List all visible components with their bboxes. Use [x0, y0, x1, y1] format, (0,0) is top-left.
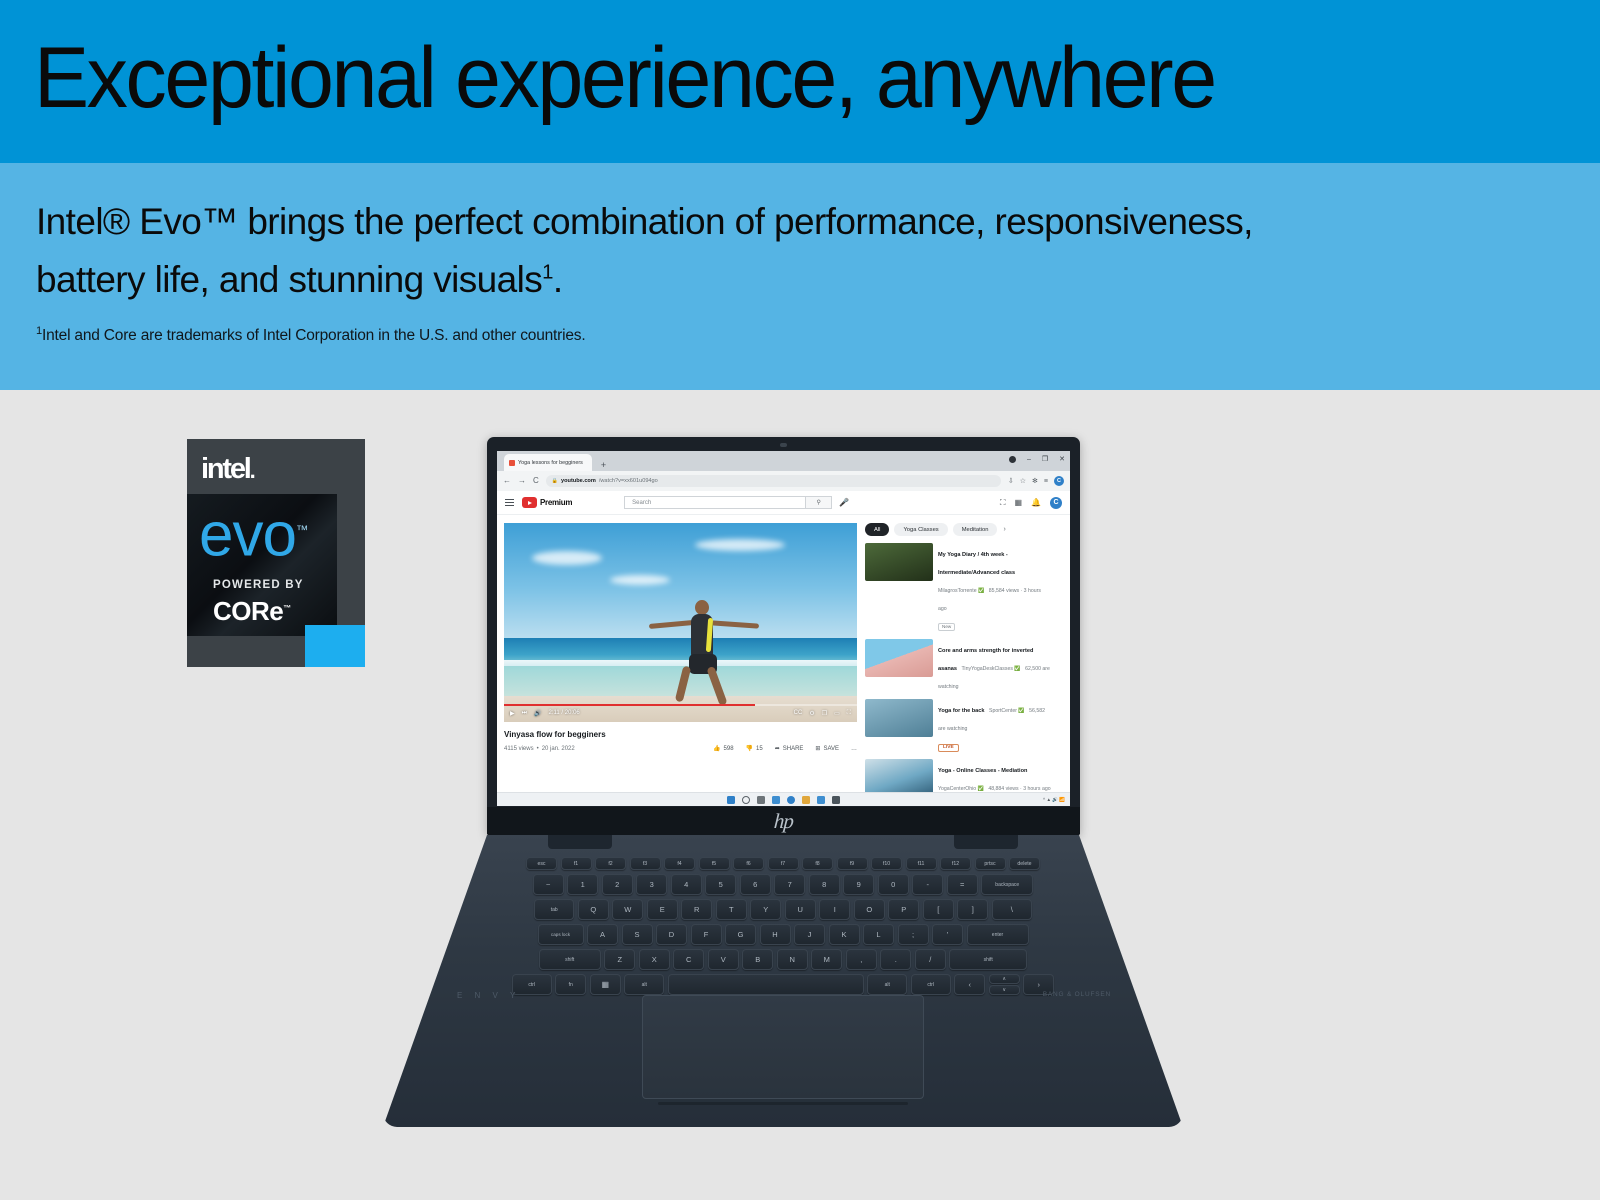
thumbs-down-icon: 👎 — [746, 745, 753, 752]
evo-wordmark: evo™ — [199, 499, 307, 567]
youtube-play-icon — [522, 497, 537, 508]
video-player[interactable]: ▶ ⏭ 🔊 2:11 / 20:06 CC ⚙ ❐ ▭ — [504, 523, 857, 722]
promo-page: Exceptional experience, anywhere Intel® … — [0, 0, 1600, 1200]
laptop-base: esc f1 f2 f3 f4 f5 f6 f7 f8 f9 f10 f11 f… — [383, 835, 1183, 1127]
page-title: Exceptional experience, anywhere — [34, 26, 1215, 130]
suggestion-channel: TinyYogaDeskClasses ✅ — [961, 666, 1020, 672]
key-j[interactable]: J — [794, 924, 825, 945]
key-v[interactable]: V — [708, 949, 739, 970]
channel-name: TinyYogaDeskClasses — [961, 666, 1013, 672]
live-badge: LIVE — [938, 744, 959, 752]
key-s[interactable]: S — [622, 924, 653, 945]
reload-icon[interactable]: C — [533, 477, 539, 485]
intel-wordmark-dot: . — [250, 458, 256, 483]
footnote: 1Intel and Core are trademarks of Intel … — [36, 327, 585, 345]
cloud-shape — [610, 575, 670, 585]
search-icon[interactable]: ⚲ — [806, 496, 832, 509]
share-button[interactable]: ➦SHARE — [775, 745, 804, 752]
browser-toolbar: ← → C 🔒 youtube.com/watch?v=xx601u094go … — [497, 471, 1070, 491]
hinge-right — [954, 835, 1018, 849]
screen-bottom-bezel: hp — [487, 807, 1080, 835]
headline-band: Exceptional experience, anywhere — [0, 0, 1600, 163]
key-f4[interactable]: f4 — [664, 857, 695, 870]
key-enter[interactable]: enter — [967, 924, 1029, 945]
key-y[interactable]: Y — [750, 899, 781, 920]
youtube-premium-label: Premium — [540, 498, 572, 507]
suggestion-info: Yoga for the back SportCenter ✅ 56,582 a… — [938, 699, 1051, 753]
key-g[interactable]: G — [725, 924, 756, 945]
fullscreen-icon[interactable]: ⛶ — [847, 710, 851, 717]
volume-icon[interactable]: 🔊 — [534, 710, 541, 717]
save-label: SAVE — [823, 746, 839, 752]
hamburger-menu-icon[interactable] — [505, 499, 514, 507]
key-p[interactable]: P — [888, 899, 919, 920]
suggestion-title: Yoga for the back — [938, 708, 985, 714]
key-x[interactable]: X — [639, 949, 670, 970]
key-bracket-left[interactable]: [ — [923, 899, 954, 920]
video-thumbnail — [865, 543, 933, 581]
yoga-person-figure — [645, 596, 765, 706]
palm-rest: E N V Y BANG & OLUFSEN — [443, 987, 1123, 1107]
profile-icon[interactable] — [1009, 456, 1016, 463]
play-button[interactable]: ▶ — [510, 710, 515, 717]
laptop-lid: Yoga lessons for begginers + – ❐ ✕ ← — [487, 437, 1080, 835]
widgets-icon[interactable] — [772, 796, 780, 804]
extensions-icon[interactable]: ✻ — [1032, 477, 1038, 485]
key-i[interactable]: I — [819, 899, 850, 920]
chip-yoga-classes[interactable]: Yoga Classes — [894, 523, 947, 536]
key-a[interactable]: A — [587, 924, 618, 945]
youtube-header-actions: ⛶ ▦ 🔔 C — [1000, 497, 1062, 509]
key-t[interactable]: T — [716, 899, 747, 920]
front-lip — [658, 1102, 908, 1105]
keyboard-qwerty-row: tab Q W E R T Y U I O P [ ] \ — [479, 899, 1087, 920]
save-button[interactable]: ⊞SAVE — [815, 745, 839, 752]
evo-badge-accent-corner — [305, 625, 365, 667]
intel-wordmark-text: intel — [201, 453, 250, 485]
key-7[interactable]: 7 — [774, 874, 805, 895]
browser-tab-title: Yoga lessons for begginers — [518, 460, 583, 466]
bang-olufsen-label: BANG & OLUFSEN — [1043, 991, 1111, 998]
key-f9[interactable]: f9 — [837, 857, 868, 870]
powered-by-label: POWERED BY — [213, 579, 304, 591]
forward-icon[interactable]: → — [518, 477, 526, 485]
key-1[interactable]: 1 — [567, 874, 598, 895]
key-f1[interactable]: f1 — [561, 857, 592, 870]
key-slash[interactable]: / — [915, 949, 946, 970]
keyboard-number-row: ~ 1 2 3 4 5 6 7 8 9 0 - = backspace — [479, 874, 1087, 895]
key-tilde[interactable]: ~ — [533, 874, 564, 895]
key-4[interactable]: 4 — [671, 874, 702, 895]
cloud-shape — [695, 539, 785, 551]
youtube-content: ▶ ⏭ 🔊 2:11 / 20:06 CC ⚙ ❐ ▭ — [497, 515, 1070, 805]
bell-icon[interactable]: 🔔 — [1031, 498, 1041, 507]
key-f3[interactable]: f3 — [630, 857, 661, 870]
figure-left-arm — [649, 620, 693, 629]
video-controls: ▶ ⏭ 🔊 2:11 / 20:06 CC ⚙ ❐ ▭ — [504, 706, 857, 720]
like-button[interactable]: 👍598 — [713, 745, 734, 752]
save-plus-icon: ⊞ — [815, 745, 820, 752]
apps-grid-icon[interactable]: ▦ — [1014, 498, 1022, 507]
meta-separator: • — [537, 746, 539, 752]
key-esc[interactable]: esc — [526, 857, 557, 870]
edge-icon[interactable] — [787, 796, 795, 804]
keyboard-function-row: esc f1 f2 f3 f4 f5 f6 f7 f8 f9 f10 f11 f… — [479, 857, 1087, 870]
suggestion-info: My Yoga Diary / 4th week - Intermediate/… — [938, 543, 1051, 633]
chip-all[interactable]: All — [865, 523, 889, 536]
subhead-line-1: Intel® Evo™ brings the perfect combinati… — [36, 201, 1253, 242]
start-icon[interactable] — [727, 796, 735, 804]
subhead-text: Intel® Evo™ brings the perfect combinati… — [36, 193, 1556, 309]
lock-icon: 🔒 — [552, 478, 558, 484]
chip-meditation[interactable]: Meditation — [953, 523, 998, 536]
file-explorer-icon[interactable] — [802, 796, 810, 804]
back-icon[interactable]: ← — [503, 477, 511, 485]
figure-right-leg — [707, 666, 728, 706]
key-n[interactable]: N — [777, 949, 808, 970]
key-c[interactable]: C — [673, 949, 704, 970]
browser-window: Yoga lessons for begginers + – ❐ ✕ ← — [497, 451, 1070, 806]
core-trademark: ™ — [283, 603, 290, 612]
keyboard: esc f1 f2 f3 f4 f5 f6 f7 f8 f9 f10 f11 f… — [479, 857, 1087, 999]
intel-evo-badge: intel. evo™ POWERED BY CORe™ — [187, 439, 365, 667]
video-title: Vinyasa flow for begginers — [504, 730, 857, 739]
key-f2[interactable]: f2 — [595, 857, 626, 870]
key-w[interactable]: W — [612, 899, 643, 920]
video-controls-right: CC ⚙ ❐ ▭ ⛶ — [794, 710, 851, 717]
key-f7[interactable]: f7 — [768, 857, 799, 870]
list-item[interactable]: My Yoga Diary / 4th week - Intermediate/… — [865, 543, 1051, 633]
windows-taskbar: ^ ▲ 🔊 📶 — [497, 792, 1070, 806]
key-2[interactable]: 2 — [602, 874, 633, 895]
star-icon[interactable]: ☆ — [1020, 477, 1026, 485]
key-h[interactable]: H — [760, 924, 791, 945]
key-quote[interactable]: ' — [932, 924, 963, 945]
next-button[interactable]: ⏭ — [522, 710, 527, 717]
subhead-line-2: battery life, and stunning visuals — [36, 259, 542, 300]
dislike-button[interactable]: 👎15 — [746, 745, 763, 752]
key-u[interactable]: U — [785, 899, 816, 920]
key-f6[interactable]: f6 — [733, 857, 764, 870]
window-controls: – ❐ ✕ — [1009, 455, 1065, 463]
key-z[interactable]: Z — [604, 949, 635, 970]
url-path: /watch?v=xx601u094go — [599, 478, 658, 484]
theater-mode-icon[interactable]: ▭ — [834, 710, 840, 717]
suggestion-channel: MilagrosTorrente ✅ — [938, 588, 984, 594]
verified-icon: ✅ — [1018, 708, 1024, 714]
task-view-icon[interactable] — [757, 796, 765, 804]
mail-icon[interactable] — [832, 796, 840, 804]
chips-next-icon[interactable]: › — [1003, 526, 1005, 533]
channel-name: MilagrosTorrente — [938, 588, 977, 594]
key-f5[interactable]: f5 — [699, 857, 730, 870]
youtube-header: Premium Search ⚲ 🎤 ⛶ ▦ 🔔 C — [497, 491, 1070, 515]
miniplayer-icon[interactable]: ❐ — [822, 710, 827, 717]
suggestion-title: My Yoga Diary / 4th week - Intermediate/… — [938, 552, 1015, 576]
key-l[interactable]: L — [863, 924, 894, 945]
minimize-button[interactable]: – — [1027, 456, 1031, 463]
close-button[interactable]: ✕ — [1059, 455, 1065, 463]
intel-wordmark: intel. — [201, 453, 256, 486]
key-prtsc[interactable]: prtsc — [975, 857, 1006, 870]
video-main-column: ▶ ⏭ 🔊 2:11 / 20:06 CC ⚙ ❐ ▭ — [504, 523, 857, 805]
key-8[interactable]: 8 — [809, 874, 840, 895]
video-meta-row: 4115 views • 20 jan. 2022 👍598 👎15 ➦SHAR… — [504, 745, 857, 752]
key-f8[interactable]: f8 — [802, 857, 833, 870]
video-thumbnail — [865, 639, 933, 677]
video-date: 20 jan. 2022 — [542, 746, 575, 752]
status-badge: New — [938, 623, 955, 631]
figure-left-leg — [675, 666, 691, 703]
share-arrow-icon: ➦ — [775, 745, 780, 752]
key-o[interactable]: O — [854, 899, 885, 920]
subhead-band: Intel® Evo™ brings the perfect combinati… — [0, 163, 1600, 390]
key-0[interactable]: 0 — [878, 874, 909, 895]
key-f10[interactable]: f10 — [871, 857, 902, 870]
key-backslash[interactable]: \ — [992, 899, 1032, 920]
list-item[interactable]: Core and arms strength for inverted asan… — [865, 639, 1051, 693]
new-tab-button[interactable]: + — [601, 459, 606, 471]
suggestion-title: Yoga - Online Classes - Mediation — [938, 768, 1027, 774]
key-arrow-up[interactable]: ∧ — [989, 974, 1020, 984]
keyboard-shift-row: shift Z X C V B N M , . / shift — [479, 949, 1087, 970]
create-video-icon[interactable]: ⛶ — [1000, 498, 1006, 508]
video-views: 4115 views — [504, 746, 534, 752]
key-delete[interactable]: delete — [1009, 857, 1040, 870]
evo-trademark: ™ — [296, 523, 307, 537]
laptop-screen: Yoga lessons for begginers + – ❐ ✕ ← — [497, 451, 1070, 806]
share-label: SHARE — [783, 746, 804, 752]
key-k[interactable]: K — [829, 924, 860, 945]
webcam-icon — [780, 443, 787, 447]
key-9[interactable]: 9 — [843, 874, 874, 895]
browser-toolbar-actions: ⇩ ☆ ✻ ≡ C — [1008, 476, 1064, 486]
suggestion-channel: SportCenter ✅ — [989, 708, 1025, 714]
keyboard-home-row: caps lock A S D F G H J K L ; ' enter — [479, 924, 1087, 945]
like-count: 598 — [724, 746, 734, 752]
youtube-logo[interactable]: Premium — [522, 497, 572, 508]
video-action-bar: 👍598 👎15 ➦SHARE ⊞SAVE … — [713, 745, 857, 752]
key-b[interactable]: B — [742, 949, 773, 970]
core-wordmark-text: CORe — [213, 596, 283, 626]
verified-icon: ✅ — [1014, 666, 1020, 672]
channel-name: SportCenter — [989, 708, 1017, 714]
key-f12[interactable]: f12 — [940, 857, 971, 870]
core-wordmark: CORe™ — [213, 596, 291, 627]
browser-profile-avatar[interactable]: C — [1054, 476, 1064, 486]
video-thumbnail — [865, 699, 933, 737]
key-r[interactable]: R — [681, 899, 712, 920]
key-f11[interactable]: f11 — [906, 857, 937, 870]
evo-wordmark-text: evo — [199, 501, 296, 570]
settings-gear-icon[interactable]: ⚙ — [809, 710, 814, 717]
key-tab[interactable]: tab — [534, 899, 574, 920]
key-caps-lock[interactable]: caps lock — [538, 924, 584, 945]
key-5[interactable]: 5 — [705, 874, 736, 895]
youtube-favicon — [509, 460, 515, 466]
suggestions-sidebar: All Yoga Classes Meditation › My Yoga Di… — [865, 523, 1051, 805]
thumbs-up-icon: 👍 — [713, 745, 720, 752]
laptop-product-image: Yoga lessons for begginers + – ❐ ✕ ← — [383, 437, 1183, 1127]
figure-head — [695, 600, 709, 615]
microphone-icon[interactable]: 🎤 — [839, 498, 849, 507]
filter-chips: All Yoga Classes Meditation › — [865, 523, 1051, 536]
key-comma[interactable]: , — [846, 949, 877, 970]
key-minus[interactable]: - — [912, 874, 943, 895]
more-actions-button[interactable]: … — [851, 746, 857, 752]
key-shift-left[interactable]: shift — [539, 949, 601, 970]
key-shift-right[interactable]: shift — [949, 949, 1027, 970]
key-d[interactable]: D — [656, 924, 687, 945]
dislike-count: 15 — [756, 746, 763, 752]
system-tray[interactable]: ^ ▲ 🔊 📶 — [1043, 797, 1065, 803]
browser-tab[interactable]: Yoga lessons for begginers — [504, 454, 592, 471]
suggestion-info: Core and arms strength for inverted asan… — [938, 639, 1051, 693]
address-bar[interactable]: 🔒 youtube.com/watch?v=xx601u094go — [546, 475, 1001, 487]
footnote-text: Intel and Core are trademarks of Intel C… — [42, 327, 585, 344]
subhead-footnote-marker: 1 — [542, 262, 553, 284]
figure-right-arm — [711, 620, 759, 628]
touchpad[interactable] — [642, 995, 924, 1099]
hinge-left — [548, 835, 612, 849]
user-avatar[interactable]: C — [1050, 497, 1062, 509]
envy-brand-label: E N V Y — [457, 991, 520, 1000]
url-domain: youtube.com — [561, 478, 596, 484]
key-period[interactable]: . — [880, 949, 911, 970]
key-bracket-right[interactable]: ] — [957, 899, 988, 920]
browser-tab-strip: Yoga lessons for begginers + – ❐ ✕ — [497, 451, 1070, 471]
maximize-button[interactable]: ❐ — [1042, 455, 1048, 463]
key-e[interactable]: E — [647, 899, 678, 920]
search-icon[interactable] — [742, 796, 750, 804]
key-equals[interactable]: = — [947, 874, 978, 895]
key-f[interactable]: F — [691, 924, 722, 945]
list-icon[interactable]: ≡ — [1044, 478, 1048, 485]
key-semicolon[interactable]: ; — [898, 924, 929, 945]
key-q[interactable]: Q — [578, 899, 609, 920]
key-3[interactable]: 3 — [636, 874, 667, 895]
list-item[interactable]: Yoga for the back SportCenter ✅ 56,582 a… — [865, 699, 1051, 753]
search-input[interactable]: Search — [624, 496, 806, 509]
youtube-search-group: Search ⚲ 🎤 — [624, 496, 849, 509]
key-6[interactable]: 6 — [740, 874, 771, 895]
closed-captions-icon[interactable]: CC — [794, 710, 803, 717]
key-m[interactable]: M — [811, 949, 842, 970]
store-icon[interactable] — [817, 796, 825, 804]
video-timestamp: 2:11 / 20:06 — [549, 710, 580, 716]
verified-icon: ✅ — [978, 588, 984, 594]
cloud-shape — [532, 551, 602, 565]
hp-logo: hp — [773, 809, 794, 834]
share-icon[interactable]: ⇩ — [1008, 477, 1014, 485]
key-backspace[interactable]: backspace — [981, 874, 1033, 895]
